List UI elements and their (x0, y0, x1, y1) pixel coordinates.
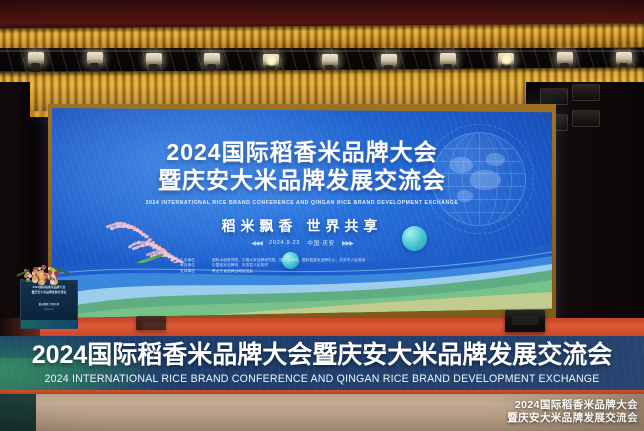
watermark-line1: 2024国际稻香米品牌大会 (478, 399, 638, 412)
led-title-line2: 暨庆安大米品牌发展交流会 (52, 168, 552, 193)
spotlight-7 (381, 54, 397, 66)
led-title-line1: 2024国际稻香米品牌大会 (52, 140, 552, 165)
flower-stem (20, 279, 32, 283)
arrow-left-icon: ◀◀◀ (251, 240, 262, 247)
conference-stage-photo: 2024国际稻香米品牌大会 暨庆安大米品牌发展交流会 2024 INTERNAT… (0, 0, 644, 431)
podium-title-line2: 暨庆安大米品牌发展交流会 (21, 291, 77, 295)
bottom-banner: 2024国际稻香米品牌大会暨庆安大米品牌发展交流会 2024 INTERNATI… (0, 336, 644, 394)
watermark: 2024国际稻香米品牌大会 暨庆安大米品牌发展交流会 (478, 399, 638, 425)
flower-petal (39, 274, 45, 280)
led-date: 2024.9.22 (269, 240, 300, 246)
podium-accent-bar (21, 320, 77, 328)
credit-role: 支持单位 (180, 269, 206, 274)
arrow-right-icon: ▶▶▶ (342, 240, 353, 247)
flower-petal (54, 271, 60, 277)
wing-speaker-4 (572, 110, 600, 127)
credit-names: 黑龙江省品牌战略促进会 (212, 269, 253, 274)
podium-date: 2024.9.22 (21, 309, 77, 311)
flower-petal (50, 280, 55, 285)
spotlight-3 (146, 53, 162, 65)
flower-petal (41, 265, 46, 270)
spotlight-hotspot-5 (265, 54, 278, 67)
foreground-floor-left-dark (0, 394, 36, 431)
led-meta-row: ◀◀◀ 2024.9.22 中国·庆安 ▶▶▶ (52, 239, 552, 247)
flower-arrangement (14, 258, 78, 288)
wing-speaker-2 (572, 84, 600, 101)
wing-speaker-1 (540, 88, 568, 105)
stage-monitor-speaker-right (505, 310, 545, 332)
podium-slogan: 稻米飘香 世界共享 (21, 303, 77, 307)
led-screen-text: 2024国际稻香米品牌大会 暨庆安大米品牌发展交流会 2024 INTERNAT… (52, 108, 552, 318)
watermark-line2: 暨庆安大米品牌发展交流会 (478, 412, 638, 425)
led-screen: 2024国际稻香米品牌大会 暨庆安大米品牌发展交流会 2024 INTERNAT… (52, 108, 552, 318)
led-organizer-credits: 主办单位国际水稻研究院、中国大米品牌研究院、国际品牌网、国际稻香米品牌中心、庆安… (180, 258, 480, 274)
credit-row: 支持单位黑龙江省品牌战略促进会 (180, 269, 480, 274)
banner-title-english: 2024 INTERNATIONAL RICE BRAND CONFERENCE… (0, 373, 644, 385)
stage-monitor-speaker-left (136, 316, 166, 330)
banner-title-chinese: 2024国际稻香米品牌大会暨庆安大米品牌发展交流会 (0, 342, 644, 369)
flower-petal (32, 275, 38, 281)
led-slogan: 稻米飘香 世界共享 (52, 216, 552, 236)
led-subtitle-english: 2024 INTERNATIONAL RICE BRAND CONFERENCE… (52, 200, 552, 206)
led-location: 中国·庆安 (307, 239, 335, 247)
